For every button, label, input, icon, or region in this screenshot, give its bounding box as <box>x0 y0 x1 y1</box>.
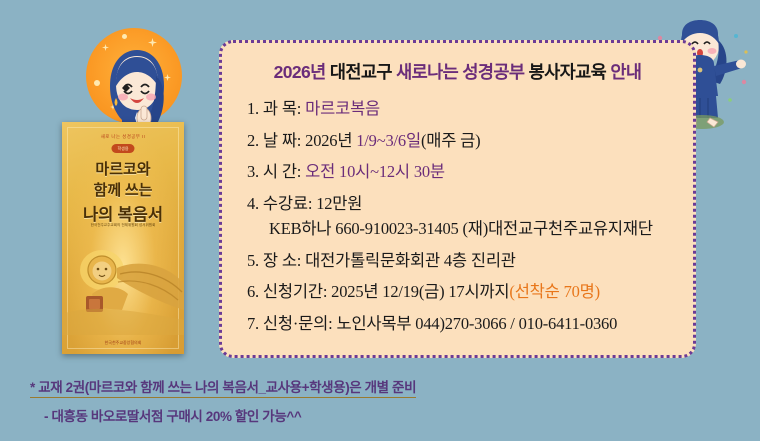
title-part-3: 봉사자교육 <box>529 62 607 82</box>
title-part-1: 대전교구 <box>330 62 392 82</box>
list-item: 6. 신청기간: 2025년 12/19(금) 17시까지(선착순 70명) <box>247 281 675 303</box>
item-value: 오전 10시~12시 30분 <box>305 162 445 181</box>
list-item: 3. 시 간: 오전 10시~12시 30분 <box>247 161 675 183</box>
list-item: 4. 수강료: 12만원 KEB하나 660-910023-31405 (재)대… <box>247 193 675 240</box>
list-item: 2. 날 짜: 2026년 1/9~3/6일(매주 금) <box>247 130 675 152</box>
title-part-2: 새로나는 성경공부 <box>396 62 524 82</box>
item-number: 1. <box>247 98 259 120</box>
item-number: 6. <box>247 281 259 303</box>
item-label: 신청·문의: <box>263 314 333 333</box>
title-part-0: 2026년 <box>274 62 326 82</box>
book-publisher: 한국천주교중앙협의회 <box>62 340 184 346</box>
book-title-line1: 마르코와 <box>62 160 184 181</box>
book-subtitle: 한국천주교주교회의 전례위원회 성서위원회 <box>62 223 184 228</box>
panel-title: 2026년 대전교구 새로나는 성경공부 봉사자교육 안내 <box>222 59 693 84</box>
footer-line-1: * 교재 2권(마르코와 함께 쓰는 나의 복음서_교사용+학생용)은 개별 준… <box>30 376 416 398</box>
info-list: 1. 과 목: 마르코복음 2. 날 짜: 2026년 1/9~3/6일(매주 … <box>247 98 675 344</box>
footer-line-2: - 대흥동 바오로딸서점 구매시 20% 할인 가능^^ <box>44 405 550 425</box>
item-number: 2. <box>247 130 259 152</box>
item-value: 2025년 12/19(금) 17시까지 <box>331 282 509 301</box>
item-number: 7. <box>247 313 259 335</box>
item-label: 시 간: <box>263 162 301 181</box>
footer-notes: * 교재 2권(마르코와 함께 쓰는 나의 복음서_교사용+학생용)은 개별 준… <box>30 376 550 425</box>
item-highlight: (선착순 70명) <box>509 282 600 301</box>
star-icon <box>122 34 127 39</box>
item-label: 장 소: <box>263 251 301 270</box>
poster-canvas: 새로 나는 성경공부 II 학생용 마르코와 함께 쓰는 나의 복음서 한국천주… <box>0 0 760 441</box>
winged-lion-illustration <box>62 240 184 335</box>
item-label: 신청기간: <box>263 282 327 301</box>
item-value: 대전가톨릭문화회관 4층 진리관 <box>305 251 516 270</box>
title-part-4: 안내 <box>610 62 641 82</box>
book-series-line: 새로 나는 성경공부 II <box>62 134 184 140</box>
item-label: 과 목: <box>263 99 301 118</box>
announcement-panel: 2026년 대전교구 새로나는 성경공부 봉사자교육 안내 1. 과 목: 마르… <box>219 40 696 358</box>
item-subline: KEB하나 660-910023-31405 (재)대전교구천주교유지재단 <box>247 218 675 240</box>
list-item: 7. 신청·문의: 노인사목부 044)270-3066 / 010-6411-… <box>247 313 675 335</box>
item-value: 1/9~3/6일 <box>356 131 421 150</box>
item-label: 날 짜: <box>263 131 301 150</box>
item-number: 3. <box>247 161 259 183</box>
book-cover: 새로 나는 성경공부 II 학생용 마르코와 함께 쓰는 나의 복음서 한국천주… <box>62 122 184 354</box>
list-item: 1. 과 목: 마르코복음 <box>247 98 675 120</box>
item-value: 마르코복음 <box>305 99 380 118</box>
book-title-line2: 함께 쓰는 <box>62 181 184 202</box>
item-number: 4. <box>247 193 259 215</box>
book-badge: 학생용 <box>111 144 134 153</box>
list-item: 5. 장 소: 대전가톨릭문화회관 4층 진리관 <box>247 250 675 272</box>
item-label: 수강료: <box>263 194 312 213</box>
book-title: 마르코와 함께 쓰는 나의 복음서 <box>62 160 184 226</box>
item-value: 12만원 <box>316 194 362 213</box>
item-number: 5. <box>247 250 259 272</box>
item-value: 노인사목부 044)270-3066 / 010-6411-0360 <box>336 314 617 333</box>
item-value-suffix: (매주 금) <box>421 131 480 150</box>
item-value-prefix: 2026년 <box>305 131 356 150</box>
